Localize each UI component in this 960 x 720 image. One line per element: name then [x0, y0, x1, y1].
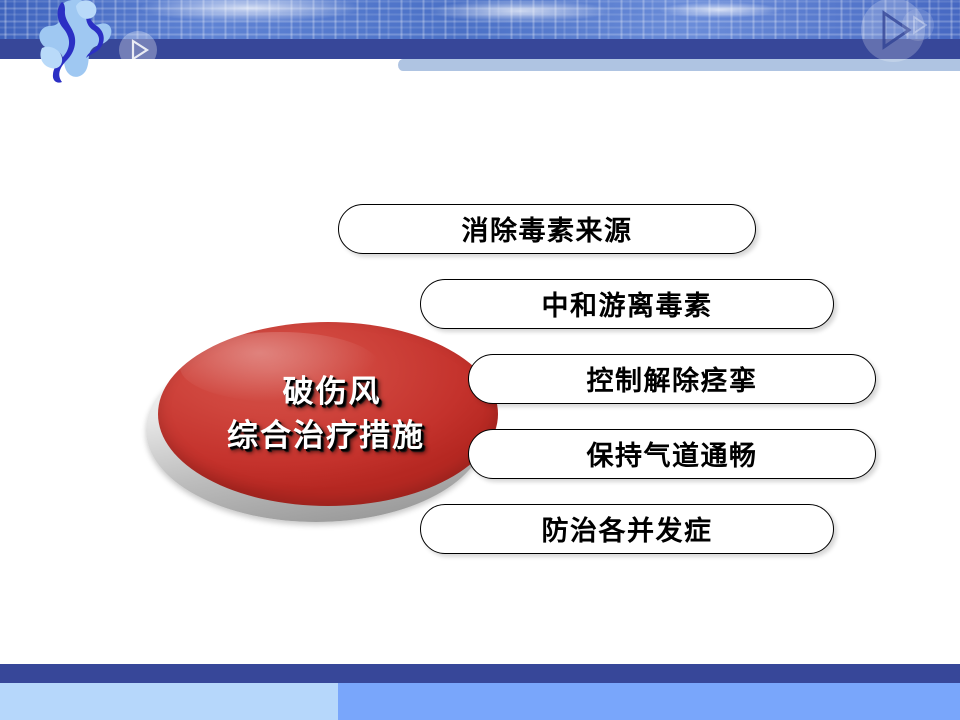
- measure-pill-4[interactable]: 保持气道通畅: [468, 429, 876, 479]
- measure-pill-5-label: 防治各并发症: [542, 509, 713, 548]
- measure-pill-2[interactable]: 中和游离毒素: [420, 279, 834, 329]
- central-ellipse: 破伤风 综合治疗措施: [146, 322, 494, 522]
- measure-pill-2-label: 中和游离毒素: [542, 284, 713, 323]
- play-circle-icon: [901, 8, 935, 42]
- measure-pill-5[interactable]: 防治各并发症: [420, 504, 834, 554]
- play-circle-icon[interactable]: [118, 30, 158, 70]
- footer-navy-band: [0, 664, 960, 683]
- measure-pill-4-label: 保持气道通畅: [587, 434, 758, 473]
- splat-blob-logo: [32, 0, 114, 84]
- measure-pill-3-label: 控制解除痉挛: [587, 359, 758, 398]
- footer-blue-right-band: [338, 683, 960, 720]
- ellipse-red-face: [158, 322, 498, 506]
- footer-light-left-band: [0, 683, 338, 720]
- slide-canvas: 破伤风 综合治疗措施 消除毒素来源 中和游离毒素 控制解除痉挛 保持气道通畅 防…: [0, 0, 960, 720]
- measure-pill-1[interactable]: 消除毒素来源: [338, 204, 756, 254]
- measure-pill-1-label: 消除毒素来源: [462, 209, 633, 248]
- measure-pill-3[interactable]: 控制解除痉挛: [468, 354, 876, 404]
